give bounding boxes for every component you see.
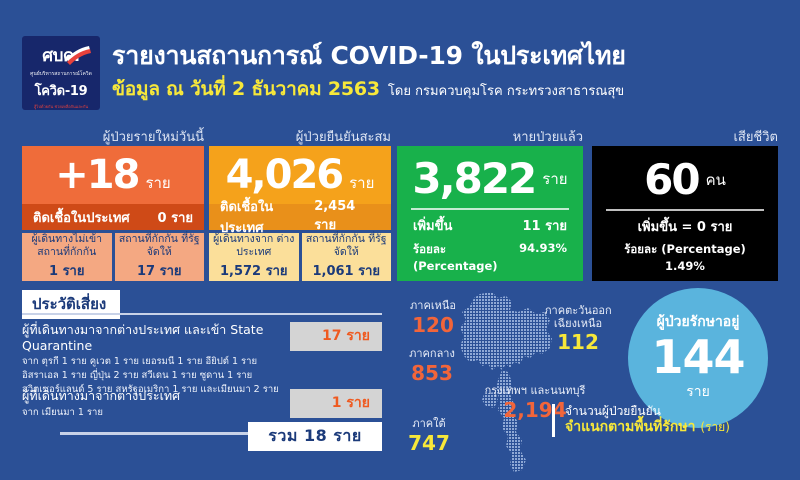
risk-total-box: รวม 18 ราย xyxy=(248,422,382,451)
risk-group-1-badge: 1 ราย xyxy=(290,389,382,418)
region-north: ภาคเหนือ 120 xyxy=(398,300,468,336)
card-header-recovered: หายป่วยแล้ว xyxy=(397,126,583,147)
map-caption-line2: จำแนกตามพื้นที่รักษา (ราย) xyxy=(565,419,730,437)
recovered-percentage-label: ร้อยละ (Percentage) xyxy=(413,241,519,273)
cssa-logo: ศบค. ศูนย์บริหารสถานการณ์โควิด โควิด-19 … xyxy=(22,36,100,110)
region-northeast-value: 112 xyxy=(530,331,626,353)
logo-footer-text: สู้ไปด้วยกัน ช่วยเหลือกันและกัน xyxy=(34,103,88,110)
deaths-increase-line: เพิ่มขึ้น = 0 ราย xyxy=(604,216,766,237)
card-header-cumulative: ผู้ป่วยยืนยันสะสม xyxy=(209,126,391,147)
infographic-page: ศบค. ศูนย์บริหารสถานการณ์โควิด โควิด-19 … xyxy=(0,0,800,480)
deaths-percentage-line: ร้อยละ (Percentage) 1.49% xyxy=(604,241,766,273)
cumulative-cell-1-label: สถานที่กักกัน ที่รัฐจัดให้ xyxy=(302,233,392,257)
new-cases-domestic-label: ติดเชื้อในประเทศ xyxy=(33,207,130,228)
new-cases-cell-1: สถานที่กักกัน ที่รัฐจัดให้ 17 ราย xyxy=(115,233,205,281)
region-central-label: ภาคกลาง xyxy=(396,348,468,361)
cumulative-value: 4,026 xyxy=(226,155,343,195)
risk-group-0: ผู้ที่เดินทางมาจากต่างประเทศ และเข้า Sta… xyxy=(22,322,322,397)
risk-group-1-detail: จาก เมียนมา 1 ราย xyxy=(22,406,322,420)
risk-group-0-title: ผู้ที่เดินทางมาจากต่างประเทศ และเข้า Sta… xyxy=(22,322,322,353)
region-south: ภาคใต้ 747 xyxy=(396,418,462,454)
map-caption-line1: จำนวนผู้ป่วยยืนยัน xyxy=(565,404,730,419)
logo-covid-text: โควิด-19 xyxy=(35,80,88,101)
new-cases-domestic-value: 0 ราย xyxy=(158,207,193,228)
cumulative-cell-1: สถานที่กักกัน ที่รัฐจัดให้ 1,061 ราย xyxy=(302,233,392,281)
card-deaths: 60 คน เพิ่มขึ้น = 0 ราย ร้อยละ (Percenta… xyxy=(592,146,778,281)
region-northeast-label: ภาคตะวันออก เฉียงเหนือ xyxy=(530,305,626,330)
new-cases-cell-0-label: ผู้เดินทางไม่เข้า สถานที่กักกัน xyxy=(22,233,112,257)
page-title: รายงานสถานการณ์ COVID-19 ในประเทศไทย xyxy=(112,36,626,76)
cumulative-cell-1-value: 1,061 ราย xyxy=(312,260,380,281)
cumulative-cell-0: ผู้เดินทางจาก ต่างประเทศ 1,572 ราย xyxy=(209,233,299,281)
risk-group-0-badge: 17 ราย xyxy=(290,322,382,351)
logo-sub-text: ศูนย์บริหารสถานการณ์โควิด xyxy=(30,70,92,78)
region-northeast: ภาคตะวันออก เฉียงเหนือ 112 xyxy=(530,305,626,353)
card-new-cases: +18 ราย ติดเชื้อในประเทศ 0 ราย ผู้เดินทา… xyxy=(22,146,204,281)
card-cumulative-cases: 4,026 ราย ติดเชื้อในประเทศ 2,454 ราย ผู้… xyxy=(209,146,391,281)
deaths-value: 60 xyxy=(644,159,698,201)
thai-flag-ribbon-icon xyxy=(65,45,91,65)
card-header-deaths: เสียชีวิต xyxy=(592,126,778,147)
region-south-label: ภาคใต้ xyxy=(396,418,462,431)
region-south-value: 747 xyxy=(396,432,462,454)
card-header-new: ผู้ป่วยรายใหม่วันนี้ xyxy=(22,126,204,147)
region-central: ภาคกลาง 853 xyxy=(396,348,468,384)
cumulative-domestic-row: ติดเชื้อในประเทศ 2,454 ราย xyxy=(209,204,391,230)
region-bangkok-label: กรุงเทพฯ และนนทบุรี xyxy=(480,385,590,398)
recovered-percentage-value: 94.93% xyxy=(519,241,567,273)
region-north-value: 120 xyxy=(398,314,468,336)
new-cases-cell-0: ผู้เดินทางไม่เข้า สถานที่กักกัน 1 ราย xyxy=(22,233,112,281)
deaths-unit: คน xyxy=(706,168,726,192)
treating-unit: ราย xyxy=(686,381,710,403)
treating-value: 144 xyxy=(651,334,744,380)
report-date: ข้อมูล ณ วันที่ 2 ธันวาคม 2563 xyxy=(112,74,380,104)
new-cases-unit: ราย xyxy=(145,171,170,195)
recovered-percentage-row: ร้อยละ (Percentage) 94.93% xyxy=(409,241,571,273)
map-caption-unit: (ราย) xyxy=(700,420,730,434)
risk-group-1: ผู้ที่เดินทางมาจากต่างประเทศ จาก เมียนมา… xyxy=(22,388,322,419)
recovered-increase-row: เพิ่มขึ้น 11 ราย xyxy=(409,215,571,236)
new-cases-value: +18 xyxy=(55,155,138,195)
new-cases-cell-0-value: 1 ราย xyxy=(49,260,84,281)
header: ศบค. ศูนย์บริหารสถานการณ์โควิด โควิด-19 … xyxy=(0,0,800,120)
recovered-increase-value: 11 ราย xyxy=(522,215,567,236)
card-recovered: 3,822 ราย เพิ่มขึ้น 11 ราย ร้อยละ (Perce… xyxy=(397,146,583,281)
cumulative-cell-0-value: 1,572 ราย xyxy=(220,260,288,281)
recovered-value: 3,822 xyxy=(412,158,535,200)
risk-group-1-title: ผู้ที่เดินทางมาจากต่างประเทศ xyxy=(22,388,322,404)
map-caption: จำนวนผู้ป่วยยืนยัน จำแนกตามพื้นที่รักษา … xyxy=(552,404,730,437)
risk-history-divider xyxy=(22,313,382,315)
subtitle: ข้อมูล ณ วันที่ 2 ธันวาคม 2563 โดย กรมคว… xyxy=(112,74,624,104)
cumulative-unit: ราย xyxy=(349,171,374,195)
new-cases-cell-1-value: 17 ราย xyxy=(137,260,182,281)
region-central-value: 853 xyxy=(396,362,468,384)
recovered-divider xyxy=(411,208,569,210)
map-caption-line2-text: จำแนกตามพื้นที่รักษา xyxy=(565,419,695,435)
recovered-unit: ราย xyxy=(542,167,567,191)
new-cases-domestic-row: ติดเชื้อในประเทศ 0 ราย xyxy=(22,204,204,230)
new-cases-value-block: +18 ราย xyxy=(22,146,204,204)
report-source: โดย กรมควบคุมโรค กระทรวงสาธารณสุข xyxy=(388,80,624,101)
recovered-increase-label: เพิ่มขึ้น xyxy=(413,215,452,236)
deaths-divider xyxy=(606,209,764,211)
cumulative-cell-0-label: ผู้เดินทางจาก ต่างประเทศ xyxy=(209,233,299,257)
new-cases-cell-1-label: สถานที่กักกัน ที่รัฐจัดให้ xyxy=(115,233,205,257)
region-north-label: ภาคเหนือ xyxy=(398,300,468,313)
